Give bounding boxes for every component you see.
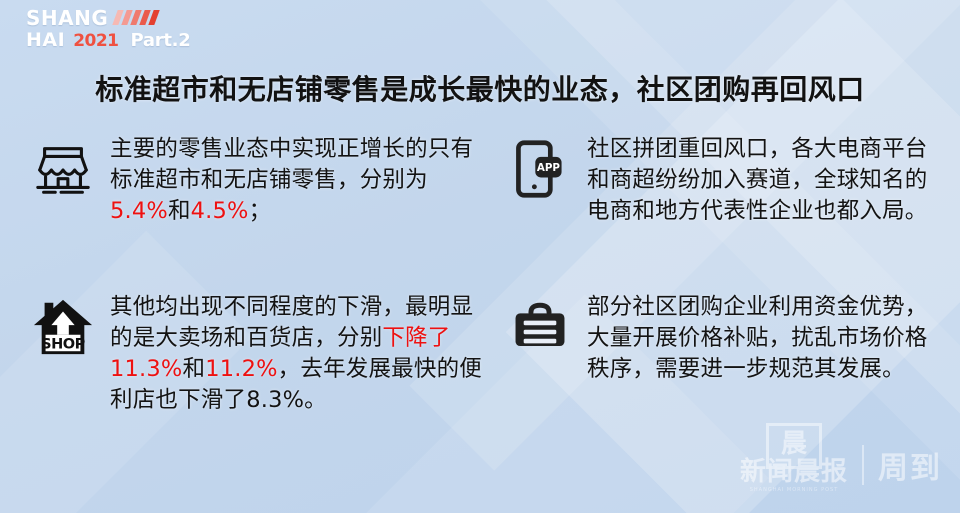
brand-word-hai: HAI [26,31,65,50]
brand-stripes-icon [115,10,157,25]
info-item-group-buying: APP 社区拼团重回风口，各大电商平台和商超纷纷加入赛道，全球知名的电商和地方代… [485,132,930,284]
brand-word-shang: SHANG [26,8,108,28]
brand-logo-row-1: SHANG [26,8,190,28]
briefcase-icon [507,294,573,360]
brand-part-label: Part.2 [131,32,191,50]
watermark: 晨 新闻晨报 SHANGHAI MORNING POST 周到 [740,437,942,493]
body-text: 和 [168,198,191,224]
watermark-emblem-char: 晨 [781,431,807,457]
highlight-value: 4.5% [191,198,249,224]
svg-text:SHOP: SHOP [41,336,85,352]
info-item-retail-growth: 主要的零售业态中实现正增长的只有标准超市和无店铺零售，分别为5.4%和4.5%； [30,132,485,284]
info-item-text: 社区拼团重回风口，各大电商平台和商超纷纷加入赛道，全球知名的电商和地方代表性企业… [587,132,930,227]
body-text: 部分社区团购企业利用资金优势，大量开展价格补贴，扰乱市场价格秩序，需要进一步规范… [587,294,928,382]
watermark-partner-name: 周到 [878,443,942,487]
page-title: 标准超市和无店铺零售是成长最快的业态，社区团购再回风口 [0,68,960,108]
info-item-text: 部分社区团购企业利用资金优势，大量开展价格补贴，扰乱市场价格秩序，需要进一步规范… [587,290,930,385]
svg-text:APP: APP [537,162,561,174]
watermark-divider [862,445,864,485]
info-item-text: 主要的零售业态中实现正增长的只有标准超市和无店铺零售，分别为5.4%和4.5%； [110,132,485,227]
body-text: 主要的零售业态中实现正增长的只有标准超市和无店铺零售，分别为 [110,136,473,193]
body-text: 和 [182,356,205,382]
phone-app-icon: APP [507,136,573,202]
watermark-publication-name: 新闻晨报 [740,459,848,485]
highlight-value: 5.4% [110,198,168,224]
brand-logo: SHANG HAI 2021 Part.2 [26,8,190,50]
body-text: ； [249,198,272,224]
watermark-publication: 晨 新闻晨报 SHANGHAI MORNING POST [740,437,848,493]
storefront-awning-icon [30,136,96,202]
shop-house-icon: SHOP [30,294,96,360]
brand-year: 2021 [73,33,118,50]
infographic-slide: SHANG HAI 2021 Part.2 标准超市和无店铺零售是成长最快的业态… [0,0,960,513]
highlight-value: 11.2% [205,356,277,382]
brand-logo-row-2: HAI 2021 Part.2 [26,31,190,50]
info-item-decline: SHOP 其他均出现不同程度的下滑，最明显的是大卖场和百货店，分别下降了11.3… [30,290,485,416]
info-item-regulation: 部分社区团购企业利用资金优势，大量开展价格补贴，扰乱市场价格秩序，需要进一步规范… [485,290,930,416]
body-text: 社区拼团重回风口，各大电商平台和商超纷纷加入赛道，全球知名的电商和地方代表性企业… [587,136,928,224]
watermark-publication-subtitle: SHANGHAI MORNING POST [750,488,839,493]
info-item-text: 其他均出现不同程度的下滑，最明显的是大卖场和百货店，分别下降了11.3%和11.… [110,290,485,416]
content-grid: 主要的零售业态中实现正增长的只有标准超市和无店铺零售，分别为5.4%和4.5%；… [30,132,930,416]
